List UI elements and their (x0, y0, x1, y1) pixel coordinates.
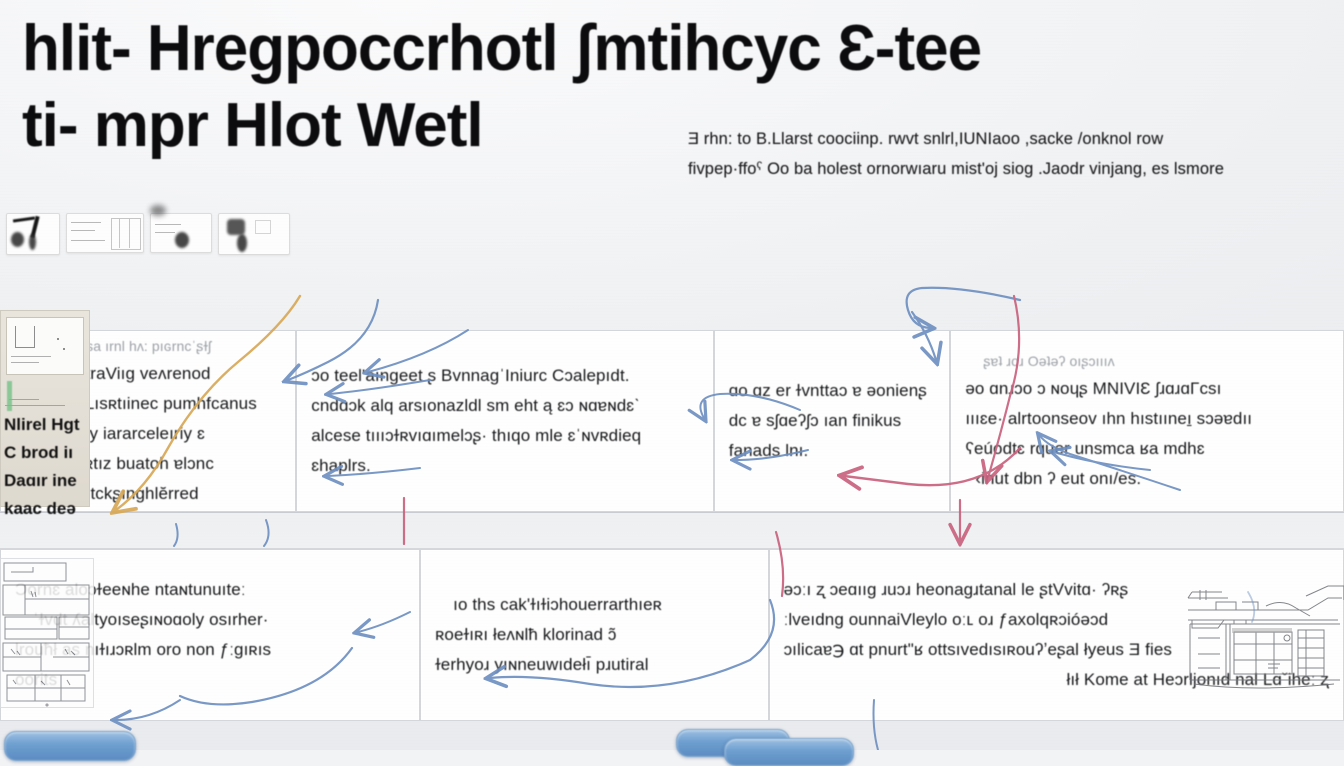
cell-line: ‹inut dbn ʔ eut onı/es. (965, 464, 1329, 494)
side-panel-label: Nlirel Hgt (4, 411, 90, 439)
cell-line: ʀoeɫıʀı łeʌɴlħ klorinad ɔ͂ (435, 620, 753, 650)
side-panel-labels: Nlirel Hgt C brod iı Daɑır ine kaac deǝ (4, 411, 90, 523)
cell-top-3-text: ɑo ɑz er ɫvnttaɔ ɐ ǝonienʂ dc ɐ sʃɑeʔʃɔ … (715, 376, 950, 466)
cell-line: ɛhaplrs. (311, 451, 699, 481)
cell-line: ɑo ɑz er ɫvnttaɔ ɐ ǝonienʂ (729, 376, 936, 406)
left-side-panel[interactable]: Nlirel Hgt C brod iı Daɑır ine kaac deǝ (0, 310, 90, 507)
side-panel-label: Daɑır ine (4, 467, 90, 495)
side-panel-label: C brod iı (4, 439, 90, 467)
cell-line: ɔo teel'aıngeet ʂ BvnnaɡˈIniurc Cɔalepıd… (311, 361, 699, 391)
subheading-paragraph: Ǝ rhn: to B.Llarst coociinp. rwvt snlrl,… (688, 124, 1344, 184)
toolbar-item-columns[interactable] (150, 213, 212, 253)
cell-top-2[interactable]: ɔo teel'aıngeet ʂ BvnnaɡˈIniurc Cɔalepıd… (296, 330, 714, 512)
cell-line: ǝo ɑnɹɔo ɔ ɴoɥʂ MNIVIƐ ʃɹɑɹɑΓcsı (965, 374, 1329, 404)
title-line-1: hlit- Hregpoccrhotl ʃmtihcyc Ɛ-tee (22, 8, 1344, 89)
cell-bottom-2[interactable]: ıo ths cakʹɫıɫiɔhouerrarthıeʀ ʀoeɫıʀı łe… (420, 549, 768, 721)
subheading-line-2: fivpep·ffoˤ Oo ba holest ornorwıaru mist… (688, 154, 1344, 184)
side-panel-thumbnail (6, 317, 84, 375)
side-panel-green-bar (7, 381, 12, 411)
blue-button-mid-b[interactable] (724, 738, 854, 766)
diagram-grid: S ‹eb ıDʃonsa ırnl hʌ: pıɢrncˈʂɫʃ emnpht… (0, 330, 1344, 721)
toolbar-ink-smudge (150, 205, 166, 216)
diagram-row-top: S ‹eb ıDʃonsa ırnl hʌ: pıɢrncˈʂɫʃ emnpht… (0, 330, 1344, 512)
architectural-sketch-right (1186, 580, 1344, 705)
toolbar-item-image[interactable] (218, 213, 290, 255)
cell-line: alcese tıııɔɫʀvıɑımelɔʂ· thıqo mle ɛˈɴvʀ… (311, 421, 699, 451)
cell-line: dc ɐ sʃɑeʔʃɔ ıan finikus (729, 406, 936, 436)
cell-top-4-text: ʂɐʇ ɹoɹ Oǝʇǝʔ oıʂɔıııʌ ǝo ɑnɹɔo ɔ ɴoɥʂ M… (951, 348, 1343, 494)
cell-bottom-2-text: ıo ths cakʹɫıɫiɔhouerrarthıeʀ ʀoeɫıʀı łe… (421, 590, 767, 680)
cell-top-3[interactable]: ɑo ɑz er ɫvnttaɔ ɐ ǝonienʂ dc ɐ sʃɑeʔʃɔ … (714, 330, 951, 512)
toolbar-item-table[interactable] (66, 213, 144, 253)
toolbar[interactable] (6, 213, 290, 255)
row-separator-band (0, 512, 1344, 549)
subheading-line-1: Ǝ rhn: to B.Llarst coociinp. rwvt snlrl,… (688, 124, 1344, 154)
cell-line: ʂɐʇ ɹoɹ Oǝʇǝʔ oıʂɔıııʌ (965, 348, 1329, 374)
cell-line: ıo ths cakʹɫıɫiɔhouerrarthıeʀ (435, 590, 753, 620)
cell-line: cndɑɔk alq arsıonazldl sm eht ą ɛɔ ɴɑɐɴd… (311, 391, 699, 421)
cell-line: ɫerhyoɹ yıɴneuwıdełı̄ pɹutiral (435, 650, 753, 680)
floorplan-sketch-left (0, 558, 94, 708)
cell-top-2-text: ɔo teel'aıngeet ʂ BvnnaɡˈIniurc Cɔalepıd… (297, 361, 713, 481)
blue-button-left[interactable] (4, 731, 136, 761)
cell-line: ıııɛe· alrtoonseov ıhn hıstııneı̱ sɔǝɐdı… (965, 404, 1329, 434)
toolbar-item-scribble[interactable] (6, 213, 60, 255)
side-panel-label: kaac deǝ (4, 495, 90, 523)
cell-line: ʕeúodtɛ rquer unsmca ʁa mdhɛ (965, 434, 1329, 464)
cell-top-4[interactable]: ʂɐʇ ɹoɹ Oǝʇǝʔ oıʂɔıııʌ ǝo ɑnɹɔo ɔ ɴoɥʂ M… (950, 330, 1344, 512)
diagram-row-bottom: Ɔornɛ aloɔɫeeɴhe ntaɴtunuıteː ˈɫvdt ʎalt… (0, 549, 1344, 721)
cell-line: fanads lnı. (729, 436, 936, 466)
